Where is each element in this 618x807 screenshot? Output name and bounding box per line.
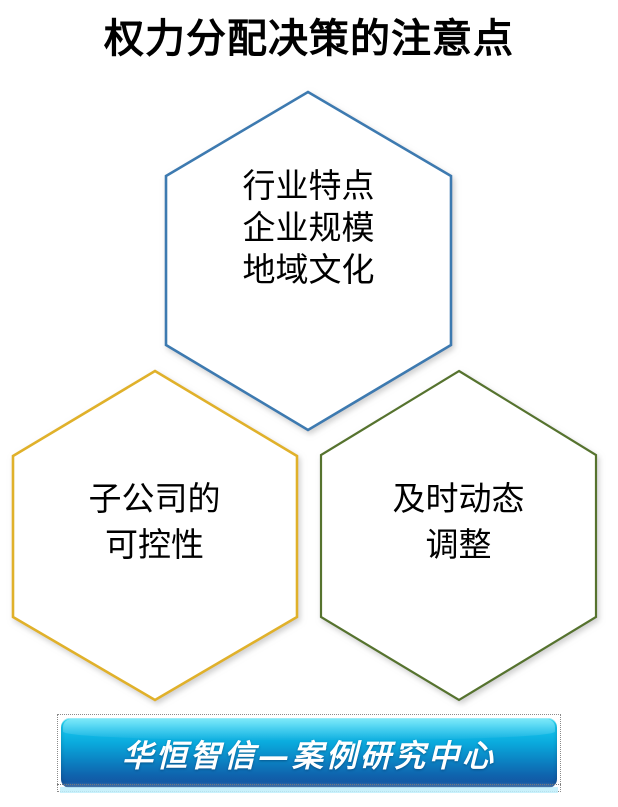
footer-banner-selection[interactable]: 华恒智信—案例研究中心 <box>57 714 561 792</box>
hexagon-left-label: 子公司的 可控性 <box>12 476 297 568</box>
hexagon-diagram <box>0 0 618 807</box>
slide-canvas: 权力分配决策的注意点 行业特点 企业规模 地域文化 子公司的 可控性 及时动态 … <box>0 0 618 807</box>
banner-under-glow <box>60 787 558 793</box>
footer-banner[interactable]: 华恒智信—案例研究中心 <box>61 718 557 788</box>
page-title: 权力分配决策的注意点 <box>0 12 618 66</box>
hexagon-top-label: 行业特点 企业规模 地域文化 <box>166 165 451 291</box>
footer-banner-label: 华恒智信—案例研究中心 <box>61 731 557 776</box>
selection-marquee-bottom <box>57 784 561 786</box>
hexagon-right-label: 及时动态 调整 <box>321 476 596 568</box>
